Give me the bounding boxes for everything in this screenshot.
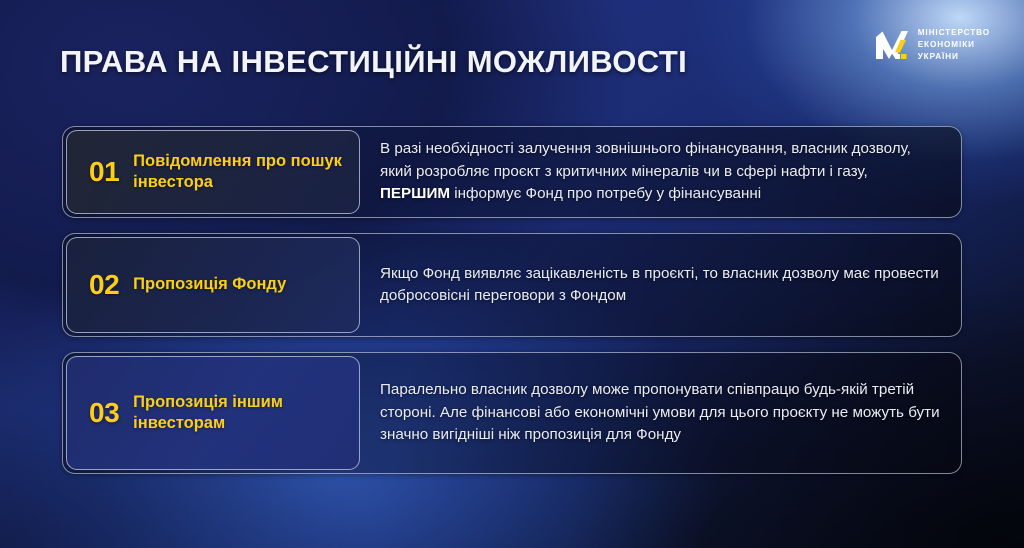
- step-label: Пропозиція іншим інвесторам: [133, 392, 349, 434]
- list-item: 03 Пропозиція іншим інвесторам Паралельн…: [62, 352, 962, 474]
- step-card-01: 01 Повідомлення про пошук інвестора: [66, 130, 360, 214]
- desc-text-pre: Якщо Фонд виявляє зацікавленість в проєк…: [380, 265, 939, 304]
- logo-line-3: України: [918, 52, 990, 63]
- desc-text-pre: Паралельно власник дозволу може пропонув…: [380, 381, 940, 443]
- logo-line-1: Міністерство: [918, 28, 990, 39]
- logo-line-2: Економіки: [918, 40, 990, 51]
- list-item: 02 Пропозиція Фонду Якщо Фонд виявляє за…: [62, 233, 962, 337]
- desc-text-bold: ПЕРШИМ: [380, 185, 450, 202]
- step-description: Паралельно власник дозволу може пропонув…: [360, 356, 958, 470]
- ministry-logo-text: Міністерство Економіки України: [918, 28, 990, 62]
- step-description: В разі необхідності залучення зовнішньог…: [360, 130, 958, 214]
- step-label: Пропозиція Фонду: [133, 274, 286, 295]
- step-label: Повідомлення про пошук інвестора: [133, 151, 349, 193]
- ministry-of-economy-m-mark: [875, 30, 909, 60]
- desc-text-pre: В разі необхідності залучення зовнішньог…: [380, 140, 911, 179]
- step-description: Якщо Фонд виявляє зацікавленість в проєк…: [360, 237, 958, 333]
- step-card-02: 02 Пропозиція Фонду: [66, 237, 360, 333]
- slide-canvas: ПРАВА НА ІНВЕСТИЦІЙНІ МОЖЛИВОСТІ Міністе…: [0, 0, 1024, 548]
- step-card-03: 03 Пропозиція іншим інвесторам: [66, 356, 360, 470]
- page-title: ПРАВА НА ІНВЕСТИЦІЙНІ МОЖЛИВОСТІ: [60, 44, 687, 80]
- ministry-logo: Міністерство Економіки України: [875, 28, 990, 62]
- step-number: 03: [89, 397, 119, 429]
- step-number: 01: [89, 156, 119, 188]
- list-item: 01 Повідомлення про пошук інвестора В ра…: [62, 126, 962, 218]
- step-number: 02: [89, 269, 119, 301]
- desc-text-post: інформує Фонд про потребу у фінансуванні: [450, 185, 761, 202]
- rights-list: 01 Повідомлення про пошук інвестора В ра…: [62, 126, 962, 474]
